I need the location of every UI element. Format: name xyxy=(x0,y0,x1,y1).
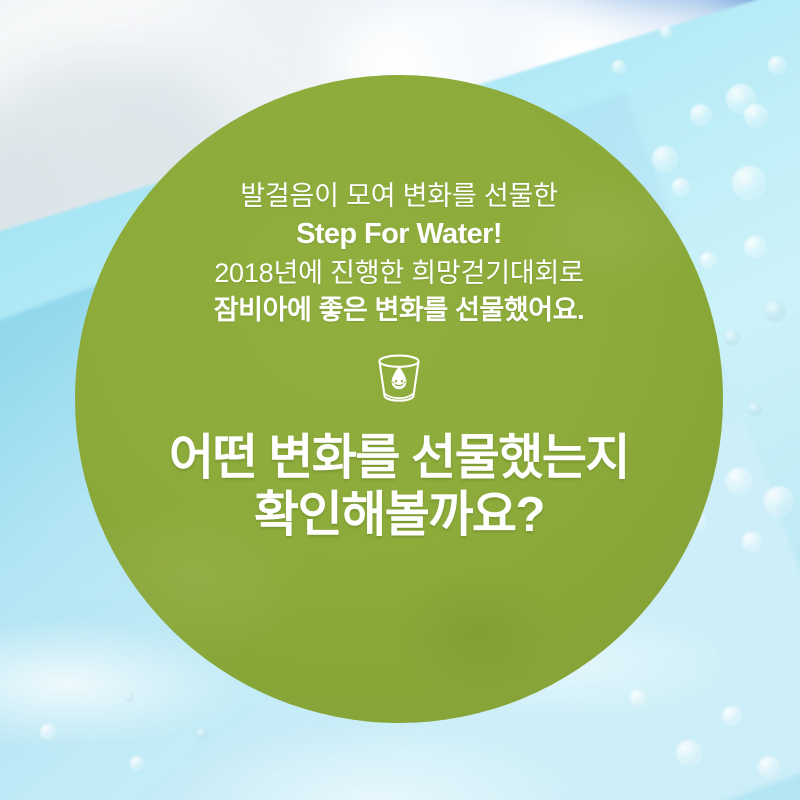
cta-line-2: 확인해볼까요? xyxy=(75,487,723,544)
headline-line-4: 잠비아에 좋은 변화를 선물했어요. xyxy=(75,293,723,328)
headline-line-3: 2018년에 진행한 희망걷기대회로 xyxy=(75,256,723,291)
cta-block: 어떤 변화를 선물했는지 확인해볼까요? xyxy=(75,430,723,545)
cta-line-1: 어떤 변화를 선물했는지 xyxy=(75,430,723,487)
card-content: 발걸음이 모여 변화를 선물한 Step For Water! 2018년에 진… xyxy=(75,75,723,723)
promo-card: 발걸음이 모여 변화를 선물한 Step For Water! 2018년에 진… xyxy=(0,0,800,800)
headline-line-2-title: Step For Water! xyxy=(75,216,723,254)
headline-block: 발걸음이 모여 변화를 선물한 Step For Water! 2018년에 진… xyxy=(75,179,723,328)
headline-line-1: 발걸음이 모여 변화를 선물한 xyxy=(75,179,723,214)
cup-with-smiling-water-drop-icon xyxy=(371,352,427,404)
